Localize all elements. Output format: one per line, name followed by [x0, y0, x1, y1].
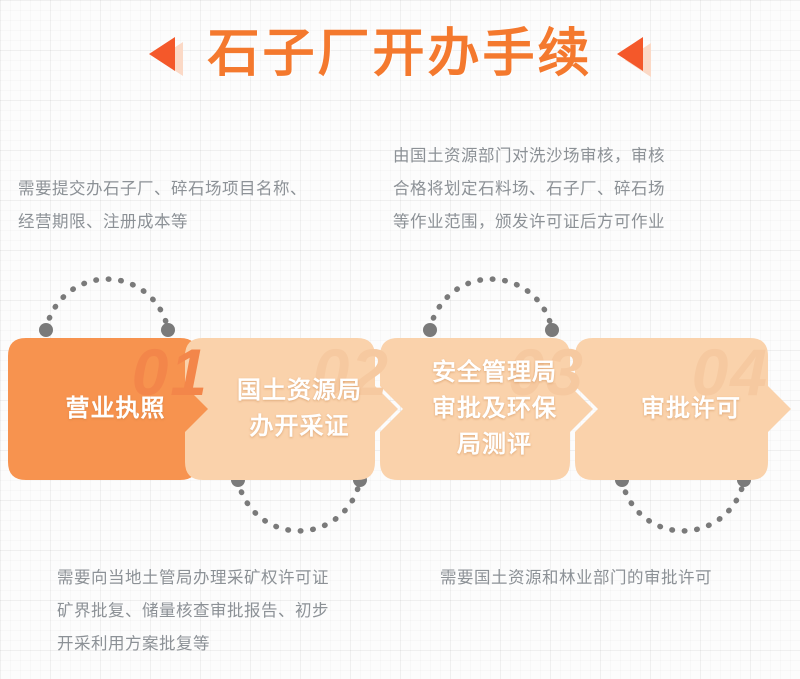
triangle-left-icon: [149, 34, 187, 74]
arc-step1-to-note-top-left: [36, 252, 178, 338]
triangle-left-icon-right: [613, 34, 651, 74]
step-2-land-resources-bureau[interactable]: 02 国土资源局 办开采证: [185, 338, 400, 480]
infographic-canvas: 石子厂开办手续 需要提交办石子厂、碎石场项目名称、 经营期限、注册成本等 由国土…: [0, 0, 800, 679]
note-bottom-right: 需要国土资源和林业部门的审批许可: [440, 562, 800, 595]
process-flow: 01 营业执照 02 国土资源局 办开采证 03 安全管理局 审批及环保 局测评…: [0, 338, 800, 480]
page-title-text: 石子厂开办手续: [207, 28, 592, 80]
note-top-right: 由国土资源部门对洗沙场审核，审核 合格将划定石料场、石子厂、碎石场 等作业范围，…: [393, 140, 793, 239]
arc-step2-to-note-bottom-left: [228, 472, 370, 558]
step-3-label: 安全管理局 审批及环保 局测评: [418, 355, 557, 463]
arc-step4-to-note-bottom-right: [612, 472, 754, 558]
step-2-label: 国土资源局 办开采证: [223, 373, 362, 445]
note-top-left: 需要提交办石子厂、碎石场项目名称、 经营期限、注册成本等: [18, 173, 378, 239]
page-title: 石子厂开办手续: [0, 18, 800, 90]
step-3-safety-and-environment-bureau[interactable]: 03 安全管理局 审批及环保 局测评: [380, 338, 595, 480]
arc-step3-to-note-top-right: [420, 252, 562, 338]
step-1-label: 营业执照: [66, 391, 166, 427]
note-bottom-left: 需要向当地土管局办理采矿权许可证 矿界批复、储量核查审批报告、初步 开采利用方案…: [57, 562, 417, 661]
step-4-approval-permit[interactable]: 04 审批许可: [575, 338, 793, 480]
step-4-label: 审批许可: [627, 391, 741, 427]
